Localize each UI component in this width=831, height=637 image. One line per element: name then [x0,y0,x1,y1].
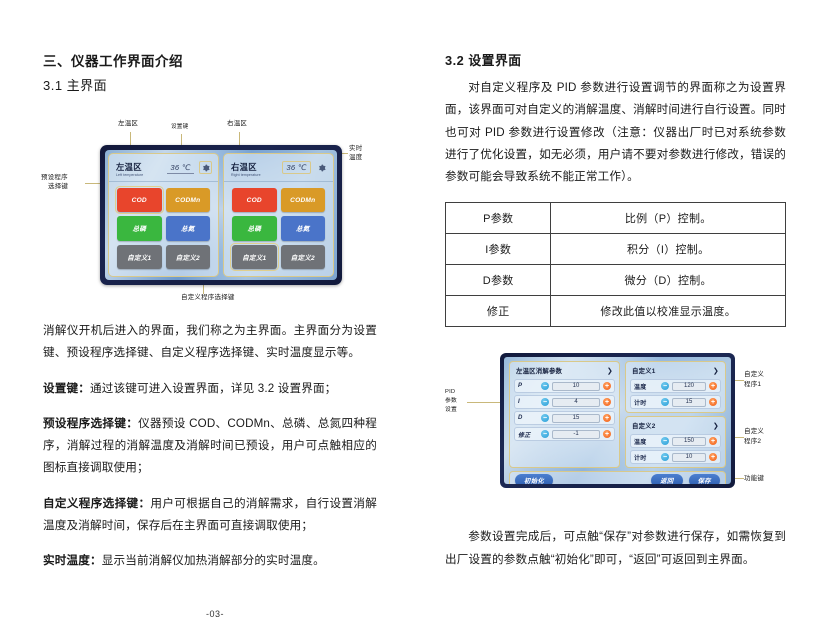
custom1-label-temperature: 温度 [634,382,658,391]
custom1-label-timer: 计时 [634,398,658,407]
program-button-tp[interactable]: 总磷 [117,216,162,240]
text-setting-key: 通过该键可进入设置界面，详见 3.2 设置界面； [90,382,336,395]
save-button[interactable]: 保存 [689,474,720,484]
left-zone-header: 左温区 Left temperature 36 ℃ [109,154,218,182]
param-label-d: D [518,415,538,421]
program-button-cod[interactable]: COD [232,188,277,212]
right-zone-title-en: Right temperature [231,174,261,178]
table-cell-desc: 微分（D）控制。 [551,265,786,296]
label-realtime-temp: 实时温度： [43,554,102,567]
param-label-correction: 修正 [518,430,538,439]
table-row: 修正 修改此值以校准显示温度。 [446,296,786,327]
settings-columns: 左温区消解参数 ❯ P − 10 + I − [509,361,726,468]
increment-icon[interactable]: + [603,398,611,406]
program-button-custom1[interactable]: 自定义1 [117,245,162,269]
custom2-value-timer[interactable]: 10 [672,453,706,462]
right-zone-temperature: 36 ℃ [282,161,311,174]
custom2-title: 自定义2 [632,421,656,430]
program-button-custom2[interactable]: 自定义2 [281,245,326,269]
leader-line [181,134,182,145]
pid-parameter-panel: 左温区消解参数 ❯ P − 10 + I − [509,361,620,468]
back-button[interactable]: 返回 [651,474,682,484]
leader-line [239,132,240,145]
program-button-tn[interactable]: 总氮 [166,216,211,240]
left-program-button-grid: COD CODMn 总磷 总氮 自定义1 自定义2 [109,182,218,276]
figure-main-interface: 左温区 设置键 右温区 实时 温度 预设程序 选择键 自定义程序选择键 [43,112,377,312]
increment-icon[interactable]: + [709,453,717,461]
left-zone-title-cn: 左温区 [116,162,142,172]
custom1-header[interactable]: 自定义1 ❯ [630,365,721,377]
table-cell-key: I参数 [446,234,551,265]
label-preset-program: 预设程序选择键： [43,417,138,430]
callout-preset-program-1: 预设程序 [41,174,68,183]
param-value-correction[interactable]: -1 [552,430,600,439]
custom1-value-temperature[interactable]: 120 [672,382,706,391]
page-number-left: -03- [206,609,224,619]
decrement-icon[interactable]: − [541,430,549,438]
custom-programs-column: 自定义1 ❯ 温度 − 120 + 计时 [625,361,726,468]
decrement-icon[interactable]: − [661,437,669,445]
program-button-cod[interactable]: COD [117,188,162,212]
subsection-title-3-2: 3.2 设置界面 [445,50,786,69]
table-cell-key: D参数 [446,265,551,296]
right-temperature-zone: 右温区 Right temperature 36 ℃ COD [223,153,334,277]
decrement-icon[interactable]: − [541,414,549,422]
param-label-i: I [518,399,538,405]
param-value-p[interactable]: 10 [552,382,600,391]
program-button-tp[interactable]: 总磷 [232,216,277,240]
table-row: I参数 积分（I）控制。 [446,234,786,265]
custom1-row-timer: 计时 − 15 + [630,395,721,409]
left-zone-temperature: 36 ℃ [167,162,194,174]
left-zone-title: 左温区 Left temperature [116,158,143,178]
table-cell-desc: 修改此值以校准显示温度。 [551,296,786,327]
pid-panel-header[interactable]: 左温区消解参数 ❯ [514,365,615,377]
custom2-label-temperature: 温度 [634,437,658,446]
param-row-correction: 修正 − -1 + [514,427,615,441]
left-zone-title-en: Left temperature [116,174,143,178]
program-button-codmn[interactable]: CODMn [166,188,211,212]
paragraph-setting-key: 设置键：通过该键可进入设置界面，详见 3.2 设置界面； [43,378,377,400]
paragraph-settings-outro: 参数设置完成后，可点触“保存”对参数进行保存，如需恢复到出厂设置的参数点触“初始… [445,526,786,571]
increment-icon[interactable]: + [709,437,717,445]
left-page-column: 三、仪器工作界面介绍 3.1 主界面 左温区 设置键 右温区 实时 温度 预设程… [0,0,415,637]
document-page: 三、仪器工作界面介绍 3.1 主界面 左温区 设置键 右温区 实时 温度 预设程… [0,0,831,637]
callout-setting-key: 设置键 [171,124,188,132]
callout-pid-3: 设置 [445,407,457,415]
label-setting-key: 设置键： [43,382,90,395]
custom1-value-timer[interactable]: 15 [672,398,706,407]
param-value-i[interactable]: 4 [552,398,600,407]
callout-custom-program: 自定义程序选择键 [181,294,235,303]
table-cell-desc: 积分（I）控制。 [551,234,786,265]
leader-line [130,132,131,145]
subsection-title-3-1: 3.1 主界面 [43,75,377,94]
table-cell-key: 修正 [446,296,551,327]
callout-realtime-temp-1: 实时 [349,145,362,154]
callout-function-keys: 功能键 [744,475,764,484]
right-program-button-grid: COD CODMn 总磷 总氮 自定义1 自定义2 [224,182,333,276]
custom2-row-timer: 计时 − 10 + [630,450,721,464]
paragraph-settings-intro: 对自定义程序及 PID 参数进行设置调节的界面称之为设置界面，该界面可对自定义的… [445,77,786,188]
program-button-tn[interactable]: 总氮 [281,216,326,240]
callout-custom1-1: 自定义 [744,371,764,380]
custom2-header[interactable]: 自定义2 ❯ [630,420,721,432]
gear-icon[interactable] [316,162,327,173]
settings-footer-bar: 初始化 返回 保存 [509,471,726,484]
table-row: D参数 微分（D）控制。 [446,265,786,296]
table-cell-desc: 比例（P）控制。 [551,203,786,234]
gear-icon[interactable] [199,161,212,174]
custom1-row-temperature: 温度 − 120 + [630,379,721,393]
leader-line [467,402,501,403]
program-button-custom2[interactable]: 自定义2 [166,245,211,269]
leader-line [734,437,744,438]
chevron-right-icon[interactable]: ❯ [713,367,719,375]
callout-custom1-2: 程序1 [744,381,761,390]
figure-settings-interface: PID 参数 设置 自定义 程序1 自定义 程序2 功能键 左温区消解参数 [445,347,786,512]
callout-preset-program-2: 选择键 [48,183,68,192]
program-button-codmn[interactable]: CODMn [281,188,326,212]
chevron-right-icon[interactable]: ❯ [713,422,719,430]
device-main-screen: 左温区 Left temperature 36 ℃ COD [100,145,342,285]
right-page-column: 3.2 设置界面 对自定义程序及 PID 参数进行设置调节的界面称之为设置界面，… [415,0,831,637]
callout-custom2-1: 自定义 [744,428,764,437]
custom2-row-temperature: 温度 − 150 + [630,434,721,448]
leader-line [734,380,744,381]
initialize-button[interactable]: 初始化 [515,474,553,484]
callout-pid-1: PID [445,389,455,397]
custom1-title: 自定义1 [632,366,656,375]
decrement-icon[interactable]: − [661,398,669,406]
text-realtime-temp: 显示当前消解仪加热消解部分的实时温度。 [102,554,325,567]
param-row-d: D − 15 + [514,411,615,425]
chevron-right-icon[interactable]: ❯ [607,367,613,375]
custom-program-1-panel: 自定义1 ❯ 温度 − 120 + 计时 [625,361,726,413]
increment-icon[interactable]: + [603,382,611,390]
param-row-p: P − 10 + [514,379,615,393]
custom2-value-temperature[interactable]: 150 [672,437,706,446]
left-temperature-zone: 左温区 Left temperature 36 ℃ COD [108,153,219,277]
param-row-i: I − 4 + [514,395,615,409]
paragraph-preset-program: 预设程序选择键：仪器预设 COD、CODMn、总磷、总氮四种程序，消解过程的消解… [43,413,377,480]
callout-custom2-2: 程序2 [744,438,761,447]
right-zone-title-cn: 右温区 [231,162,257,172]
paragraph-realtime-temp: 实时温度：显示当前消解仪加热消解部分的实时温度。 [43,550,377,572]
increment-icon[interactable]: + [709,382,717,390]
increment-icon[interactable]: + [603,430,611,438]
leader-line [734,478,744,479]
decrement-icon[interactable]: − [541,398,549,406]
callout-right-zone: 右温区 [227,120,247,129]
custom-program-2-panel: 自定义2 ❯ 温度 − 150 + 计时 [625,416,726,468]
program-button-custom1[interactable]: 自定义1 [232,245,277,269]
increment-icon[interactable]: + [709,398,717,406]
callout-pid-2: 参数 [445,398,457,406]
decrement-icon[interactable]: − [661,382,669,390]
decrement-icon[interactable]: − [541,382,549,390]
label-custom-program: 自定义程序选择键： [43,497,150,510]
page-title: 三、仪器工作界面介绍 [43,50,377,70]
table-row: P参数 比例（P）控制。 [446,203,786,234]
pid-parameter-table: P参数 比例（P）控制。 I参数 积分（I）控制。 D参数 微分（D）控制。 修… [445,202,786,327]
decrement-icon[interactable]: − [661,453,669,461]
settings-screen-content: 左温区消解参数 ❯ P − 10 + I − [504,357,731,484]
custom2-label-timer: 计时 [634,453,658,462]
right-zone-title: 右温区 Right temperature [231,158,261,178]
screen-content: 左温区 Left temperature 36 ℃ COD [105,150,337,280]
paragraph-main-interface: 消解仪开机后进入的界面，我们称之为主界面。主界面分为设置键、预设程序选择键、自定… [43,320,377,365]
callout-realtime-temp-2: 温度 [349,154,362,163]
pid-panel-title: 左温区消解参数 [516,366,562,375]
paragraph-custom-program: 自定义程序选择键：用户可根据自己的消解需求，自行设置消解温度及消解时间，保存后在… [43,493,377,538]
right-zone-header: 右温区 Right temperature 36 ℃ [224,154,333,182]
param-value-d[interactable]: 15 [552,414,600,423]
device-settings-screen: 左温区消解参数 ❯ P − 10 + I − [500,353,735,488]
table-cell-key: P参数 [446,203,551,234]
increment-icon[interactable]: + [603,414,611,422]
callout-left-zone: 左温区 [118,120,138,129]
param-label-p: P [518,383,538,389]
